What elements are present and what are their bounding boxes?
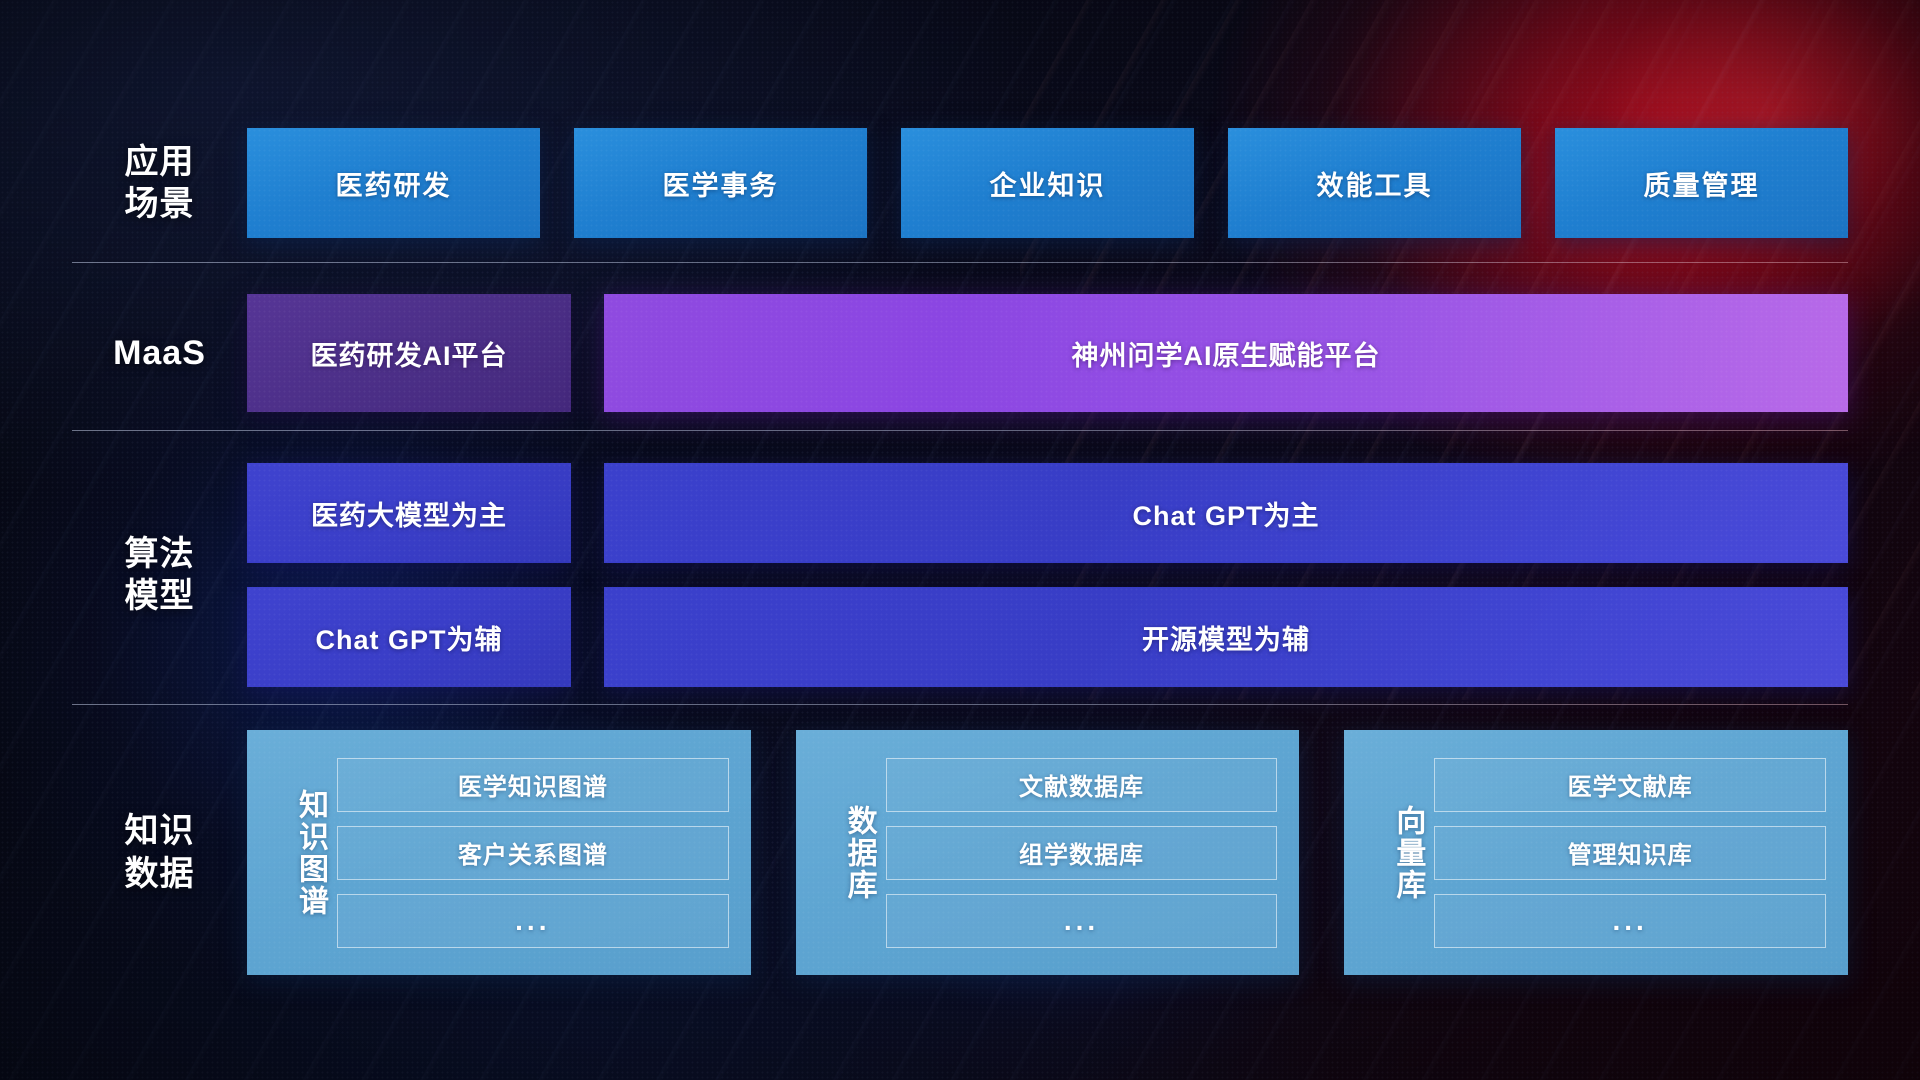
algorithm-model-stack: 医药大模型为主 Chat GPT为主 Chat GPT为辅 开源模型为辅 xyxy=(247,463,1848,687)
knowledge-item-medical-knowledge-graph[interactable]: 医学知识图谱 xyxy=(337,758,729,812)
knowledge-item-more[interactable]: ... xyxy=(886,894,1278,948)
maas-card-shenzhou-wenxue-platform[interactable]: 神州问学AI原生赋能平台 xyxy=(604,294,1848,412)
slide-canvas: 应用 场景 医药研发 医学事务 企业知识 效能工具 xyxy=(0,0,1920,1080)
row-knowledge-data: 知识 数据 知识图谱 医学知识图谱 客户关系图谱 ... 数据库 xyxy=(72,730,1848,975)
knowledge-card-title: 数据库 xyxy=(802,805,876,901)
row-maas: MaaS 医药研发AI平台 神州问学AI原生赋能平台 xyxy=(72,294,1848,412)
algo-card-chatgpt-primary[interactable]: Chat GPT为主 xyxy=(604,463,1848,563)
scenario-card-label: 效能工具 xyxy=(1317,164,1433,203)
row-application-scenarios: 应用 场景 医药研发 医学事务 企业知识 效能工具 xyxy=(72,128,1848,238)
scenario-card-medical-affairs[interactable]: 医学事务 xyxy=(574,128,867,238)
application-scenario-card-grid: 医药研发 医学事务 企业知识 效能工具 质量管理 xyxy=(247,128,1848,238)
maas-card-grid: 医药研发AI平台 神州问学AI原生赋能平台 xyxy=(247,294,1848,412)
algo-card-label: Chat GPT为主 xyxy=(1132,494,1319,533)
algorithm-model-line-primary: 医药大模型为主 Chat GPT为主 xyxy=(247,463,1848,563)
divider-algorithm-knowledge xyxy=(72,704,1848,705)
scenario-card-label: 医学事务 xyxy=(663,164,779,203)
scenario-card-label: 企业知识 xyxy=(990,164,1106,203)
knowledge-card-item-list: 文献数据库 组学数据库 ... xyxy=(876,758,1284,948)
maas-card-label: 神州问学AI原生赋能平台 xyxy=(1072,334,1381,373)
maas-card-label: 医药研发AI平台 xyxy=(311,334,508,373)
algo-card-label: 医药大模型为主 xyxy=(311,494,507,533)
row-label-algorithm-model: 算法 模型 xyxy=(72,533,247,617)
algo-card-chatgpt-secondary[interactable]: Chat GPT为辅 xyxy=(247,587,571,687)
knowledge-item-more[interactable]: ... xyxy=(337,894,729,948)
knowledge-card-title: 知识图谱 xyxy=(253,789,327,917)
knowledge-card-item-list: 医学知识图谱 客户关系图谱 ... xyxy=(327,758,735,948)
algo-card-opensource-model-secondary[interactable]: 开源模型为辅 xyxy=(604,587,1848,687)
knowledge-card-item-list: 医学文献库 管理知识库 ... xyxy=(1424,758,1832,948)
scenario-card-quality-management[interactable]: 质量管理 xyxy=(1555,128,1848,238)
knowledge-card-title: 向量库 xyxy=(1350,805,1424,901)
row-label-knowledge-data: 知识 数据 xyxy=(72,810,247,894)
row-label-maas: MaaS xyxy=(72,332,247,374)
knowledge-item-medical-literature-store[interactable]: 医学文献库 xyxy=(1434,758,1826,812)
knowledge-item-literature-database[interactable]: 文献数据库 xyxy=(886,758,1278,812)
algo-card-pharma-large-model-primary[interactable]: 医药大模型为主 xyxy=(247,463,571,563)
scenario-card-pharma-rd[interactable]: 医药研发 xyxy=(247,128,540,238)
knowledge-item-customer-relation-graph[interactable]: 客户关系图谱 xyxy=(337,826,729,880)
scenario-card-label: 医药研发 xyxy=(336,164,452,203)
row-algorithm-model: 算法 模型 医药大模型为主 Chat GPT为主 Chat GPT为辅 xyxy=(72,460,1848,690)
scenario-card-enterprise-knowledge[interactable]: 企业知识 xyxy=(901,128,1194,238)
knowledge-card-database[interactable]: 数据库 文献数据库 组学数据库 ... xyxy=(796,730,1300,975)
maas-card-pharma-ai-platform[interactable]: 医药研发AI平台 xyxy=(247,294,571,412)
scenario-card-efficiency-tools[interactable]: 效能工具 xyxy=(1228,128,1521,238)
divider-scenarios-maas xyxy=(72,262,1848,263)
algo-card-label: Chat GPT为辅 xyxy=(315,618,502,657)
scenario-card-label: 质量管理 xyxy=(1644,164,1760,203)
knowledge-card-knowledge-graph[interactable]: 知识图谱 医学知识图谱 客户关系图谱 ... xyxy=(247,730,751,975)
knowledge-item-omics-database[interactable]: 组学数据库 xyxy=(886,826,1278,880)
knowledge-item-more[interactable]: ... xyxy=(1434,894,1826,948)
knowledge-item-management-knowledge-store[interactable]: 管理知识库 xyxy=(1434,826,1826,880)
row-label-application-scenarios: 应用 场景 xyxy=(72,141,247,225)
algo-card-label: 开源模型为辅 xyxy=(1142,618,1310,657)
divider-maas-algorithm xyxy=(72,430,1848,431)
knowledge-card-grid: 知识图谱 医学知识图谱 客户关系图谱 ... 数据库 文献数据库 组学数据库 .… xyxy=(247,730,1848,975)
algorithm-model-line-secondary: Chat GPT为辅 开源模型为辅 xyxy=(247,587,1848,687)
knowledge-card-vector-store[interactable]: 向量库 医学文献库 管理知识库 ... xyxy=(1344,730,1848,975)
